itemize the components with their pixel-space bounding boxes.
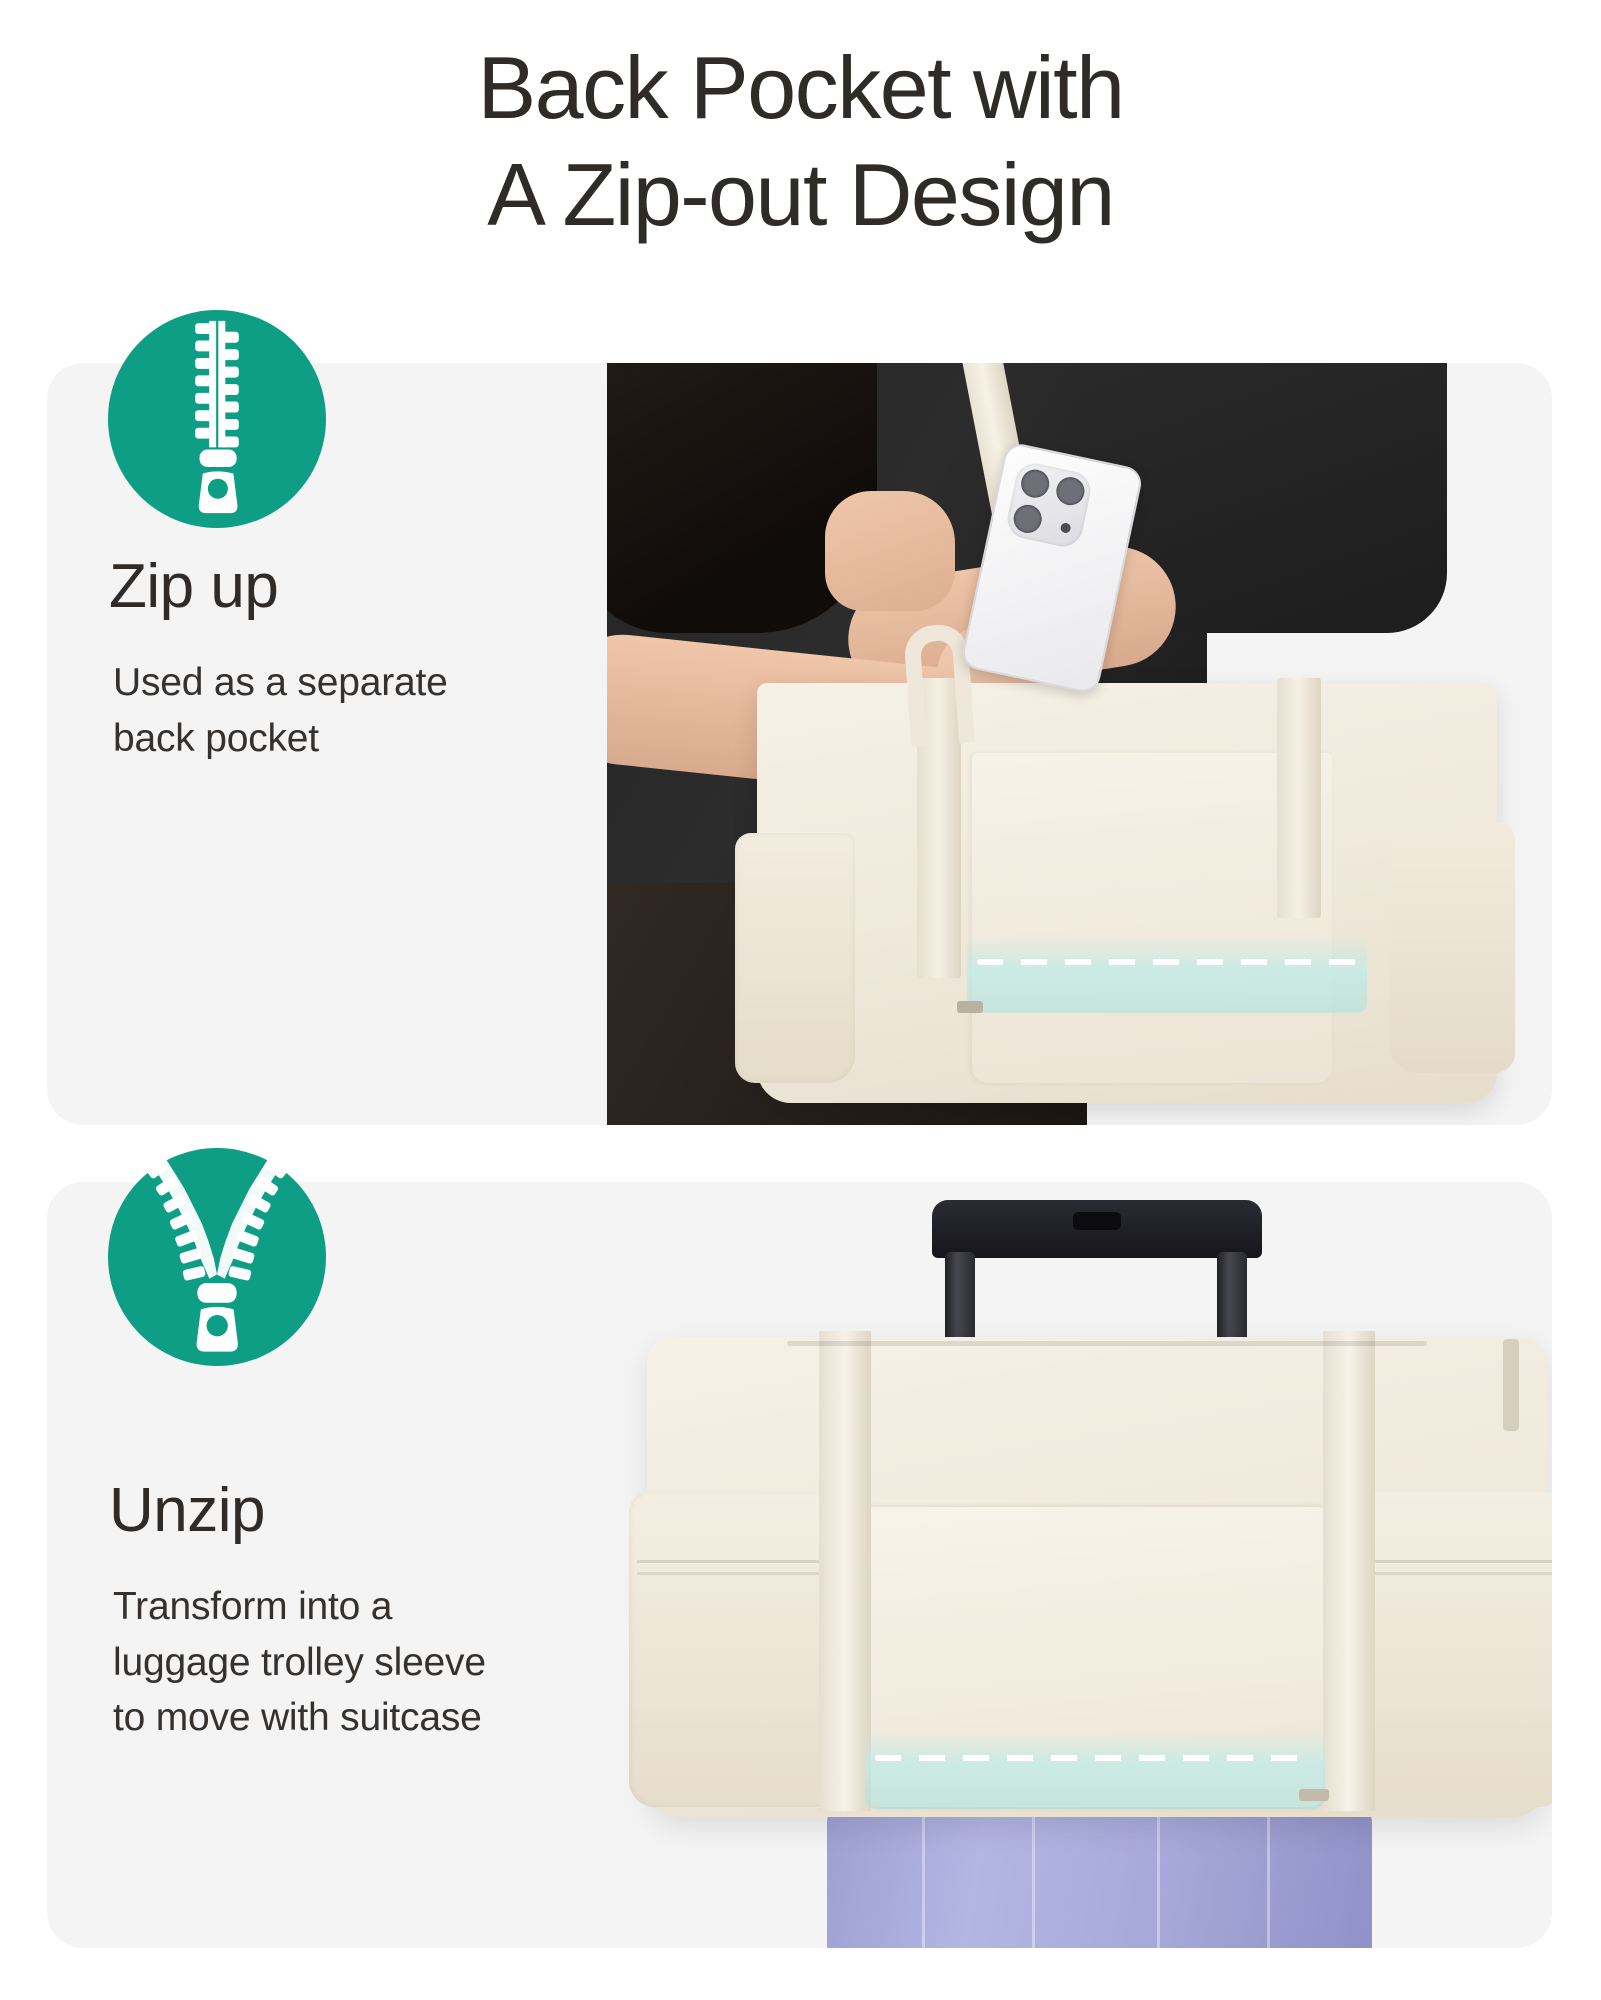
card-body-line: Used as a separate (113, 655, 687, 710)
zipper-closed-icon (108, 310, 326, 528)
hand-upper (825, 491, 955, 611)
page-title-line-2: A Zip-out Design (0, 141, 1601, 248)
zipper-pull-tab (957, 1001, 983, 1013)
photo-zip-up (607, 363, 1552, 1125)
page-title-line-1: Back Pocket with (0, 34, 1601, 141)
tote-top-zipper (787, 1341, 1427, 1346)
suitcase-handle-grip (932, 1200, 1262, 1258)
zip-dashed-line (875, 1755, 1315, 1761)
suitcase-shell (827, 1797, 1372, 1948)
tote-side-pocket-right (1390, 823, 1515, 1073)
card-text-zip-up: Zip up Used as a separate back pocket (47, 553, 687, 766)
zip-highlight-band (967, 935, 1367, 1013)
page-title: Back Pocket with A Zip-out Design (0, 34, 1601, 249)
card-body-line: Transform into a (113, 1579, 687, 1634)
zip-dashed-line (977, 959, 1357, 965)
zipper-pull-tab (1299, 1789, 1329, 1801)
infographic-page: Back Pocket with A Zip-out Design (0, 0, 1601, 2000)
zip-highlight-band (865, 1729, 1325, 1809)
tote-bag-body (757, 683, 1497, 1103)
card-heading-unzip: Unzip (47, 1477, 687, 1545)
card-body-unzip: Transform into a luggage trolley sleeve … (47, 1579, 687, 1745)
tote-handle-strap-right (1277, 678, 1321, 918)
tote-side-pocket-right (1345, 1492, 1552, 1807)
phone-camera-module (1004, 460, 1094, 550)
card-body-line: to move with suitcase (113, 1690, 687, 1745)
card-heading-zip-up: Zip up (47, 553, 687, 621)
card-body-line: luggage trolley sleeve (113, 1635, 687, 1690)
tote-top-zipper-pull (1503, 1339, 1519, 1431)
card-body-zip-up: Used as a separate back pocket (47, 655, 687, 766)
card-body-line: back pocket (113, 711, 687, 766)
suitcase-handle-button (1073, 1212, 1121, 1230)
tote-side-pocket-left (735, 833, 855, 1083)
tote-handle-strap-left (819, 1331, 871, 1811)
card-text-unzip: Unzip Transform into a luggage trolley s… (47, 1477, 687, 1745)
tote-handle-strap-right (1323, 1331, 1375, 1811)
zipper-open-icon (108, 1148, 326, 1366)
tote-bag-body (647, 1337, 1547, 1817)
